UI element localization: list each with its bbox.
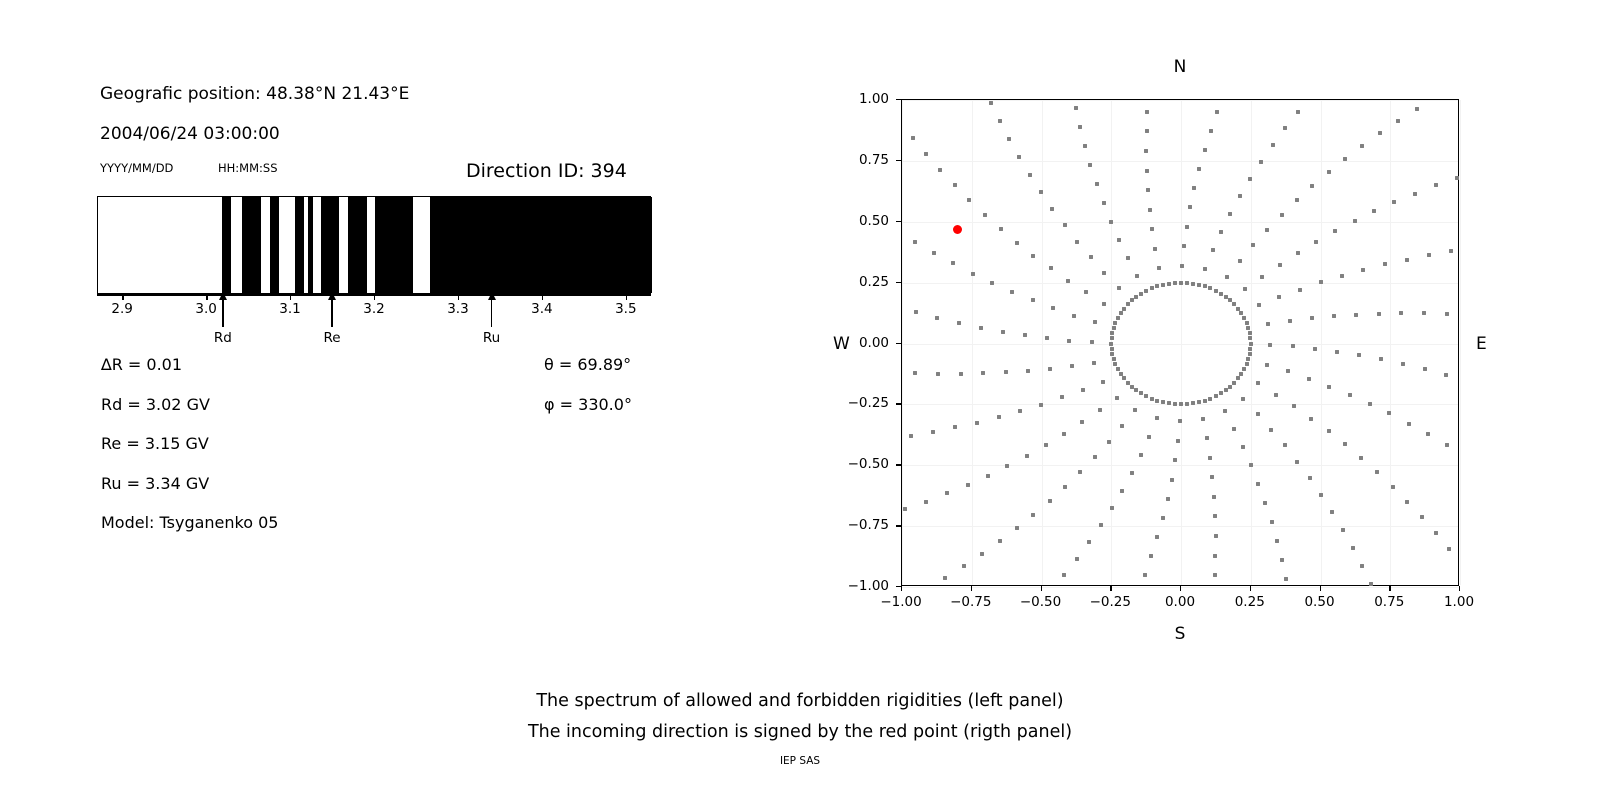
scatter-point xyxy=(913,240,917,244)
scatter-point xyxy=(1354,313,1358,317)
gridline-vertical xyxy=(1181,100,1182,585)
scatter-point xyxy=(1197,283,1201,287)
scatter-point xyxy=(998,539,1002,543)
scatter-point xyxy=(1039,190,1043,194)
scatter-point xyxy=(1203,148,1207,152)
scatter-point xyxy=(1005,464,1009,468)
forbidden-band xyxy=(375,197,413,293)
scatter-point xyxy=(1284,577,1288,581)
scatter-point xyxy=(1392,200,1396,204)
scatter-point xyxy=(1087,540,1091,544)
scatter-point xyxy=(909,434,913,438)
scatter-point xyxy=(1248,177,1252,181)
scatter-point xyxy=(953,183,957,187)
x-axis-tick-label: −1.00 xyxy=(880,594,921,610)
parameter-row: Rd = 3.02 GV xyxy=(101,395,278,435)
scatter-point xyxy=(1098,408,1102,412)
x-axis-tick-label: 1.00 xyxy=(1444,594,1474,610)
scatter-point xyxy=(1119,372,1123,376)
scatter-point xyxy=(1309,417,1313,421)
scatter-point xyxy=(1130,385,1134,389)
rigidity-marker-arrowhead xyxy=(219,292,227,300)
scatter-point xyxy=(1257,303,1261,307)
scatter-point xyxy=(1146,188,1150,192)
scatter-point xyxy=(1405,500,1409,504)
scatter-point xyxy=(1256,482,1260,486)
scatter-point xyxy=(1066,279,1070,283)
scatter-point xyxy=(1283,443,1287,447)
scatter-point xyxy=(943,576,947,580)
scatter-point xyxy=(1139,453,1143,457)
scatter-point xyxy=(1232,427,1236,431)
scatter-point xyxy=(1101,380,1105,384)
scatter-point xyxy=(1241,445,1245,449)
x-axis-tick-label: 0.00 xyxy=(1165,594,1195,610)
scatter-point xyxy=(1023,333,1027,337)
x-axis-tick xyxy=(971,586,972,591)
scatter-point xyxy=(1232,302,1236,306)
scatter-point xyxy=(980,552,984,556)
scatter-point xyxy=(1360,564,1364,568)
scatter-point xyxy=(913,371,917,375)
y-axis-tick-label: 0.50 xyxy=(824,213,889,229)
scatter-point xyxy=(1271,143,1275,147)
scatter-point xyxy=(1445,443,1449,447)
forbidden-band xyxy=(430,197,652,293)
scatter-point xyxy=(1144,149,1148,153)
gridline-horizontal xyxy=(902,526,1458,527)
scatter-point xyxy=(1025,454,1029,458)
rigidity-spectrum-chart xyxy=(97,196,651,294)
scatter-point xyxy=(911,136,915,140)
axis-tick-label: 2.9 xyxy=(111,301,132,317)
scatter-point xyxy=(1270,520,1274,524)
scatter-point xyxy=(1295,198,1299,202)
scatter-point xyxy=(1405,258,1409,262)
forbidden-band xyxy=(308,197,313,293)
scatter-point xyxy=(1155,284,1159,288)
scatter-point xyxy=(1343,442,1347,446)
scatter-point xyxy=(1155,535,1159,539)
x-axis-tick xyxy=(901,586,902,591)
x-axis-tick-label: −0.50 xyxy=(1020,594,1061,610)
scatter-point xyxy=(1274,393,1278,397)
scatter-point xyxy=(1143,573,1147,577)
gridline-horizontal xyxy=(902,222,1458,223)
scatter-point xyxy=(1134,295,1138,299)
scatter-point xyxy=(1015,526,1019,530)
axis-tick-label: 3.3 xyxy=(447,301,468,317)
scatter-point xyxy=(1119,311,1123,315)
scatter-point xyxy=(1155,399,1159,403)
x-axis-tick xyxy=(1320,586,1321,591)
axis-tick xyxy=(206,294,207,300)
scatter-point xyxy=(1259,160,1263,164)
scatter-point xyxy=(1375,470,1379,474)
scatter-point xyxy=(1093,455,1097,459)
scatter-point xyxy=(1130,471,1134,475)
time-format-hint: HH:MM:SS xyxy=(218,161,278,175)
scatter-point xyxy=(1045,336,1049,340)
axis-tick-label: 3.1 xyxy=(279,301,300,317)
scatter-point xyxy=(1310,316,1314,320)
scatter-point xyxy=(1298,288,1302,292)
scatter-point xyxy=(1313,347,1317,351)
y-axis-tick-label: 0.75 xyxy=(824,152,889,168)
scatter-point xyxy=(1245,321,1249,325)
y-axis-tick-label: −1.00 xyxy=(824,578,889,594)
gridline-vertical xyxy=(902,100,903,585)
scatter-point xyxy=(1455,176,1459,180)
scatter-point xyxy=(1213,573,1217,577)
scatter-point xyxy=(1296,251,1300,255)
scatter-point xyxy=(1050,207,1054,211)
scatter-point xyxy=(1062,432,1066,436)
rigidity-marker-label: Re xyxy=(323,330,340,346)
scatter-point xyxy=(924,500,928,504)
scatter-point xyxy=(1133,408,1137,412)
scatter-point xyxy=(1210,475,1214,479)
y-axis-tick xyxy=(896,99,901,100)
scatter-point xyxy=(1379,357,1383,361)
scatter-point xyxy=(1084,290,1088,294)
scatter-point xyxy=(1212,495,1216,499)
y-axis-tick xyxy=(896,160,901,161)
scatter-point xyxy=(1335,350,1339,354)
scatter-point xyxy=(1145,169,1149,173)
scatter-point xyxy=(1015,241,1019,245)
y-axis-tick-label: 0.25 xyxy=(824,274,889,290)
scatter-point xyxy=(1185,402,1189,406)
direction-id-text: Direction ID: 394 xyxy=(466,160,627,182)
parameter-row: Model: Tsyganenko 05 xyxy=(101,513,278,553)
scatter-point xyxy=(1180,264,1184,268)
forbidden-band xyxy=(270,197,279,293)
scatter-point xyxy=(1080,420,1084,424)
scatter-point xyxy=(931,430,935,434)
scatter-point xyxy=(1248,331,1252,335)
scatter-point xyxy=(1372,209,1376,213)
scatter-point xyxy=(989,101,993,105)
scatter-point xyxy=(1072,314,1076,318)
scatter-point xyxy=(1010,290,1014,294)
scatter-point xyxy=(1292,404,1296,408)
x-axis-tick xyxy=(1389,586,1390,591)
scatter-point xyxy=(1179,402,1183,406)
scatter-point xyxy=(1243,287,1247,291)
scatter-point xyxy=(1167,282,1171,286)
scatter-point xyxy=(986,474,990,478)
scatter-point xyxy=(1332,314,1336,318)
y-axis-tick-label: 0.00 xyxy=(824,335,889,351)
x-axis-tick xyxy=(1459,586,1460,591)
scatter-point xyxy=(1063,223,1067,227)
scatter-point xyxy=(999,227,1003,231)
scatter-point xyxy=(1048,499,1052,503)
scatter-point xyxy=(1113,321,1117,325)
scatter-point xyxy=(1093,320,1097,324)
scatter-point xyxy=(1256,412,1260,416)
scatter-point xyxy=(1214,534,1218,538)
scatter-point xyxy=(1242,316,1246,320)
parameter-row: ∆R = 0.01 xyxy=(101,355,278,395)
scatter-point xyxy=(1090,340,1094,344)
scatter-point xyxy=(1327,170,1331,174)
scatter-point xyxy=(1078,125,1082,129)
scatter-point xyxy=(957,321,961,325)
scatter-point xyxy=(1224,295,1228,299)
scatter-point xyxy=(1170,478,1174,482)
scatter-point xyxy=(1148,208,1152,212)
scatter-point xyxy=(1286,369,1290,373)
y-axis-tick-label: 1.00 xyxy=(824,91,889,107)
scatter-point xyxy=(1191,282,1195,286)
scatter-point xyxy=(1265,363,1269,367)
scatter-point xyxy=(962,564,966,568)
scatter-point xyxy=(945,491,949,495)
scatter-point xyxy=(1415,107,1419,111)
scatter-point xyxy=(1113,362,1117,366)
gridline-vertical xyxy=(1042,100,1043,585)
axis-tick-label: 3.2 xyxy=(363,301,384,317)
scatter-point xyxy=(1126,302,1130,306)
scatter-point xyxy=(1319,280,1323,284)
scatter-point xyxy=(1145,129,1149,133)
scatter-point xyxy=(1031,254,1035,258)
scatter-point xyxy=(1310,184,1314,188)
rigidity-marker-arrowhead xyxy=(488,292,496,300)
scatter-point xyxy=(1110,331,1114,335)
scatter-point xyxy=(1223,409,1227,413)
scatter-point xyxy=(981,371,985,375)
scatter-point xyxy=(1070,364,1074,368)
caption-line-2: The incoming direction is signed by the … xyxy=(0,717,1600,748)
datetime-text: 2004/06/24 03:00:00 xyxy=(100,124,280,144)
scatter-point xyxy=(1120,424,1124,428)
gridline-vertical xyxy=(1321,100,1322,585)
forbidden-band xyxy=(321,197,339,293)
footer-credit: IEP SAS xyxy=(0,755,1600,767)
scatter-point xyxy=(1236,307,1240,311)
scatter-point xyxy=(1197,167,1201,171)
scatter-point xyxy=(1232,381,1236,385)
scatter-point xyxy=(1074,106,1078,110)
scatter-point xyxy=(1147,435,1151,439)
scatter-point xyxy=(1387,411,1391,415)
axis-tick xyxy=(374,294,375,300)
scatter-point xyxy=(979,326,983,330)
scatter-point xyxy=(1208,456,1212,460)
figure-caption: The spectrum of allowed and forbidden ri… xyxy=(0,686,1600,748)
scatter-point xyxy=(1089,255,1093,259)
parameter-row: φ = 330.0° xyxy=(544,395,632,435)
scatter-point xyxy=(1083,144,1087,148)
scatter-point xyxy=(1361,268,1365,272)
scatter-point xyxy=(1099,523,1103,527)
scatter-point xyxy=(1110,336,1114,340)
scatter-point xyxy=(1260,275,1264,279)
scatter-point xyxy=(1228,212,1232,216)
scatter-point xyxy=(1150,286,1154,290)
scatter-point xyxy=(990,281,994,285)
scatter-point xyxy=(1341,528,1345,532)
gridline-horizontal xyxy=(902,465,1458,466)
scatter-point xyxy=(938,168,942,172)
gridline-horizontal xyxy=(902,344,1458,345)
x-axis-tick xyxy=(1180,586,1181,591)
scatter-point xyxy=(997,415,1001,419)
scatter-point xyxy=(1039,403,1043,407)
forbidden-band xyxy=(295,197,303,293)
scatter-point xyxy=(1368,402,1372,406)
scatter-point xyxy=(1075,557,1079,561)
scatter-point xyxy=(1205,436,1209,440)
x-axis-tick xyxy=(1110,586,1111,591)
compass-label-north: N xyxy=(1174,57,1187,77)
gridline-horizontal xyxy=(902,100,1458,101)
scatter-point xyxy=(1139,292,1143,296)
scatter-point xyxy=(935,316,939,320)
gridline-horizontal xyxy=(902,161,1458,162)
scatter-point xyxy=(1208,397,1212,401)
scatter-point xyxy=(1369,582,1373,586)
scatter-point xyxy=(1126,381,1130,385)
scatter-point xyxy=(1401,362,1405,366)
scatter-point xyxy=(1426,432,1430,436)
scatter-point xyxy=(1214,394,1218,398)
scatter-point xyxy=(1062,573,1066,577)
scatter-point xyxy=(1191,401,1195,405)
scatter-point xyxy=(1185,281,1189,285)
scatter-point xyxy=(1203,399,1207,403)
scatter-point xyxy=(1246,357,1250,361)
spectrum-plot-area xyxy=(97,196,651,294)
axis-tick xyxy=(458,294,459,300)
geographic-position-text: Geografic position: 48.38°N 21.43°E xyxy=(100,84,409,104)
scatter-point xyxy=(1246,326,1250,330)
scatter-point xyxy=(1117,238,1121,242)
scatter-point xyxy=(1060,395,1064,399)
scatter-point xyxy=(1308,476,1312,480)
scatter-point xyxy=(1357,353,1361,357)
scatter-point xyxy=(1116,367,1120,371)
gridline-vertical xyxy=(1460,100,1461,585)
scatter-point xyxy=(1173,458,1177,462)
scatter-point xyxy=(1149,554,1153,558)
scatter-point xyxy=(1449,249,1453,253)
scatter-point xyxy=(1248,336,1252,340)
y-axis-tick-label: −0.75 xyxy=(824,517,889,533)
scatter-point xyxy=(971,272,975,276)
scatter-point xyxy=(951,261,955,265)
axis-tick-label: 3.0 xyxy=(195,301,216,317)
x-axis-tick-label: 0.25 xyxy=(1235,594,1265,610)
scatter-point xyxy=(1242,367,1246,371)
scatter-point xyxy=(1197,400,1201,404)
scatter-point xyxy=(1135,274,1139,278)
axis-tick-label: 3.5 xyxy=(615,301,636,317)
scatter-point xyxy=(1167,401,1171,405)
scatter-point xyxy=(1116,316,1120,320)
scatter-point xyxy=(1134,388,1138,392)
scatter-point xyxy=(1423,367,1427,371)
axis-tick xyxy=(542,294,543,300)
scatter-point xyxy=(1269,428,1273,432)
axis-tick xyxy=(290,294,291,300)
parameter-row: θ = 69.89° xyxy=(544,355,632,395)
scatter-point xyxy=(1239,311,1243,315)
scatter-point xyxy=(1122,376,1126,380)
compass-label-south: S xyxy=(1175,624,1186,644)
scatter-point xyxy=(1434,183,1438,187)
scatter-point xyxy=(1248,347,1252,351)
scatter-point xyxy=(1063,485,1067,489)
scatter-point xyxy=(1280,213,1284,217)
scatter-point xyxy=(1145,110,1149,114)
scatter-point xyxy=(1327,429,1331,433)
scatter-point xyxy=(1102,271,1106,275)
x-axis-tick-label: 0.75 xyxy=(1374,594,1404,610)
scatter-point xyxy=(1150,227,1154,231)
scatter-point xyxy=(1445,312,1449,316)
scatter-point xyxy=(1201,417,1205,421)
axis-tick xyxy=(626,294,627,300)
y-axis-tick xyxy=(896,525,901,526)
x-axis-tick-label: −0.25 xyxy=(1090,594,1131,610)
scatter-point xyxy=(1028,173,1032,177)
scatter-point xyxy=(1266,322,1270,326)
scatter-point xyxy=(975,421,979,425)
scatter-point xyxy=(1192,186,1196,190)
scatter-point xyxy=(1001,330,1005,334)
scatter-point xyxy=(1225,275,1229,279)
scatter-point xyxy=(1211,248,1215,252)
scatter-point xyxy=(1120,489,1124,493)
scatter-point xyxy=(936,372,940,376)
y-axis-tick-label: −0.50 xyxy=(824,456,889,472)
scatter-point xyxy=(1173,402,1177,406)
x-axis-tick-label: 0.50 xyxy=(1304,594,1334,610)
scatter-point xyxy=(1044,443,1048,447)
scatter-point xyxy=(1182,244,1186,248)
scatter-point xyxy=(1333,229,1337,233)
y-axis-tick xyxy=(896,221,901,222)
scatter-point xyxy=(1102,201,1106,205)
scatter-point xyxy=(1263,501,1267,505)
scatter-point xyxy=(1161,283,1165,287)
scatter-point xyxy=(959,372,963,376)
scatter-point xyxy=(1351,546,1355,550)
parameter-list-left: ∆R = 0.01Rd = 3.02 GVRe = 3.15 GVRu = 3.… xyxy=(101,355,278,553)
y-axis-tick-label: −0.25 xyxy=(824,395,889,411)
scatter-point xyxy=(1238,259,1242,263)
scatter-point xyxy=(903,507,907,511)
scatter-point xyxy=(1275,539,1279,543)
y-axis-tick xyxy=(896,403,901,404)
scatter-point xyxy=(1208,286,1212,290)
scatter-point xyxy=(1179,281,1183,285)
scatter-point xyxy=(1144,289,1148,293)
scatter-point xyxy=(1283,126,1287,130)
forbidden-band xyxy=(222,197,231,293)
right-panel: N S W E −1.00−0.75−0.50−0.250.000.250.50… xyxy=(800,0,1600,800)
scatter-point xyxy=(1245,362,1249,366)
scatter-point xyxy=(1248,352,1252,356)
scatter-point xyxy=(1018,409,1022,413)
parameter-row: Ru = 3.34 GV xyxy=(101,474,278,514)
gridline-vertical xyxy=(972,100,973,585)
scatter-point xyxy=(1122,307,1126,311)
